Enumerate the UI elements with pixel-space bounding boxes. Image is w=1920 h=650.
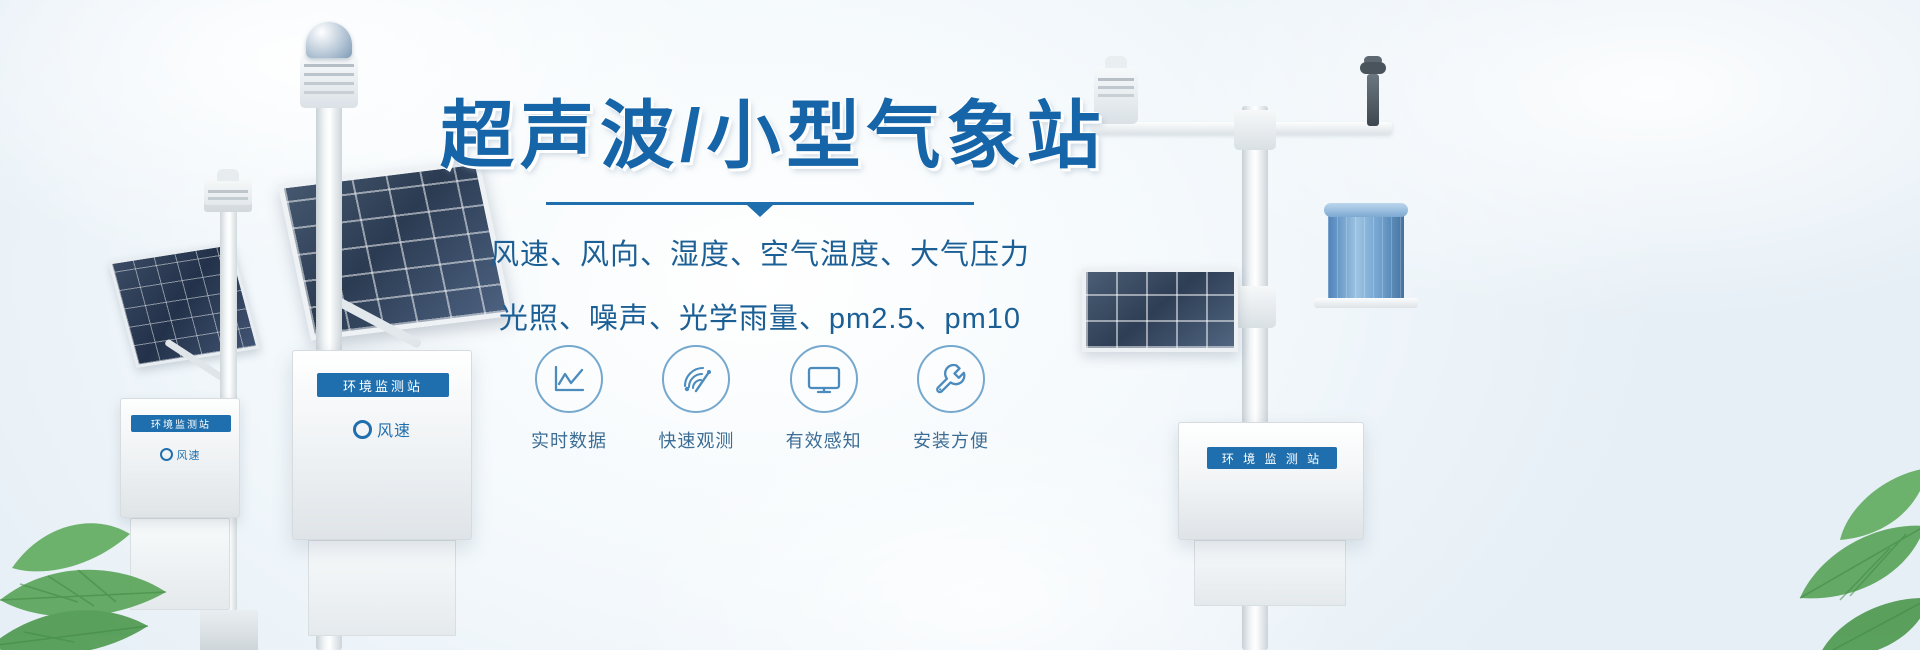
sensor-head-middle — [300, 54, 358, 108]
feature-label: 实时数据 — [521, 427, 617, 453]
subtitle-line-1: 风速、风向、湿度、空气温度、大气压力 — [440, 232, 1080, 280]
mast-collar-mid-right — [1234, 286, 1276, 328]
brand-logo-left: 风速 — [121, 447, 239, 463]
title-divider — [546, 202, 974, 216]
cabinet-tag-left: 环境监测站 — [131, 415, 231, 432]
instrument-shelf-right — [1314, 298, 1418, 308]
subtitle-line-2: 光照、噪声、光学雨量、pm2.5、pm10 — [440, 296, 1080, 344]
decorative-leaf-right-icon — [1700, 430, 1920, 650]
feature-label: 安装方便 — [903, 427, 999, 453]
brand-mark-icon — [353, 420, 372, 439]
monitor-icon — [790, 345, 858, 413]
brand-name-left: 风速 — [177, 450, 201, 462]
wind-vane-body — [1367, 74, 1379, 126]
feature-item-fast-observation[interactable]: 快速观测 — [648, 345, 744, 453]
lower-enclosure-right — [1194, 540, 1346, 606]
control-cabinet-left: 环境监测站 风速 — [120, 398, 240, 518]
page-title: 超声波/小型气象站 — [440, 96, 1080, 176]
headline-block: 超声波/小型气象站 风速、风向、湿度、空气温度、大气压力 光照、噪声、光学雨量、… — [440, 96, 1080, 344]
product-banner: 环境监测站 风速 环境监测站 风速 — [0, 0, 1920, 650]
sensor-head-left — [204, 178, 252, 212]
wind-vane-cup — [1360, 62, 1386, 74]
feature-item-easy-installation[interactable]: 安装方便 — [903, 345, 999, 453]
cabinet-tag-right: 环 境 监 测 站 — [1207, 447, 1337, 469]
feature-label: 快速观测 — [648, 427, 744, 453]
base-left — [200, 610, 258, 650]
wind-vane-icon — [1360, 56, 1386, 126]
lower-enclosure-left — [130, 518, 230, 610]
feature-list: 实时数据 快速观测 — [443, 345, 1077, 453]
feature-item-realtime-data[interactable]: 实时数据 — [521, 345, 617, 453]
control-cabinet-right: 环 境 监 测 站 — [1178, 422, 1364, 540]
solar-panel-right — [1082, 268, 1238, 352]
dome-sensor-icon — [306, 22, 352, 58]
wrench-icon — [917, 345, 985, 413]
brand-mark-icon — [160, 448, 173, 461]
chart-line-icon — [535, 345, 603, 413]
brand-name-middle: 风速 — [377, 423, 411, 440]
cabinet-tag-middle: 环境监测站 — [317, 373, 449, 397]
feature-label: 有效感知 — [776, 427, 872, 453]
radar-signal-icon — [662, 345, 730, 413]
feature-item-effective-sensing[interactable]: 有效感知 — [776, 345, 872, 453]
device-right-weather-station: 环 境 监 测 站 — [1060, 40, 1480, 650]
divider-triangle-icon — [747, 205, 773, 217]
lower-enclosure-middle — [308, 540, 456, 636]
rain-gauge-right — [1328, 210, 1404, 302]
mast-collar-top-right — [1234, 110, 1276, 150]
